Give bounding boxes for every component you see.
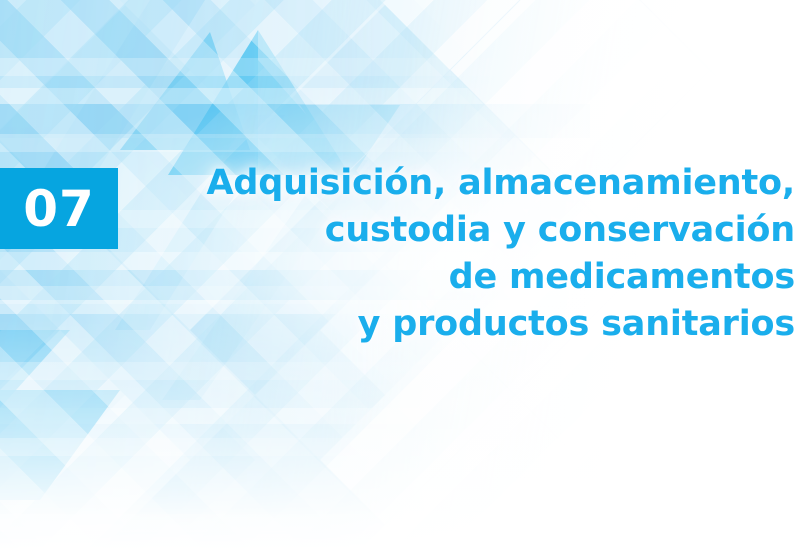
section-title-line-1: Adquisición, almacenamiento, bbox=[145, 160, 795, 207]
section-title: Adquisición, almacenamiento, custodia y … bbox=[145, 160, 795, 348]
section-title-line-3: de medicamentos bbox=[145, 254, 795, 301]
section-number-text: 07 bbox=[23, 184, 95, 234]
section-title-line-4: y productos sanitarios bbox=[145, 301, 795, 348]
section-title-line-2: custodia y conservación bbox=[145, 207, 795, 254]
section-number-badge: 07 bbox=[0, 168, 118, 249]
section-cover-slide: 07 Adquisición, almacenamiento, custodia… bbox=[0, 0, 800, 550]
